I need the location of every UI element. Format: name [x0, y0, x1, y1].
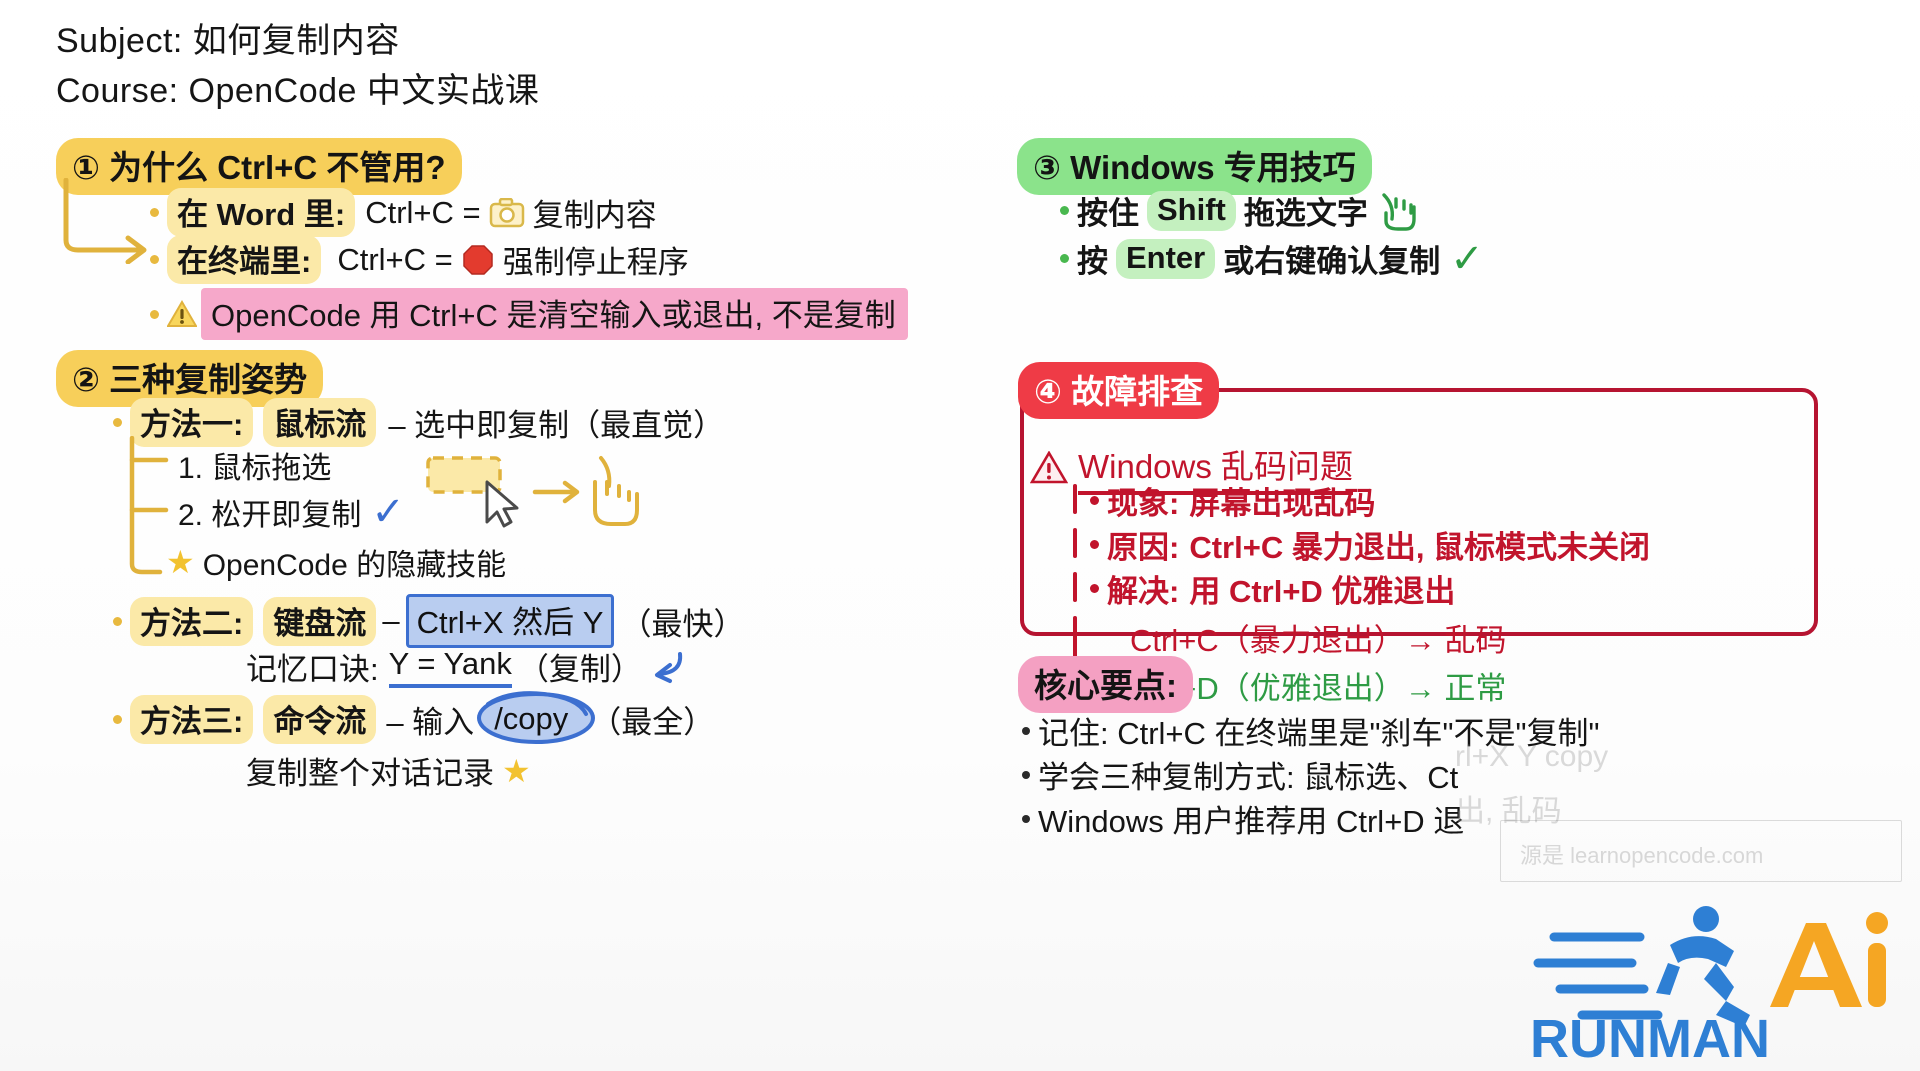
bullet-icon: [1090, 540, 1099, 549]
copy-command-oval[interactable]: /copy: [480, 699, 582, 741]
bullet-icon: [113, 617, 122, 626]
summary-item-2: Windows 用户推荐用 Ctrl+D 退: [1022, 796, 1464, 841]
bullet-icon: [150, 255, 159, 264]
item-label: 原因:: [1107, 522, 1179, 567]
mnemonic-key: Y = Yank: [389, 646, 512, 688]
section-4-item-0: 现象: 屏幕出现乱码: [1090, 478, 1375, 523]
bullet-icon: [113, 715, 122, 724]
section-4-badge: ④ 故障排查: [1018, 362, 1219, 419]
section-4-item-2: 解决: 用 Ctrl+D 优雅退出: [1090, 566, 1455, 611]
method-3-sub: 复制整个对话记录 ★: [246, 748, 531, 793]
section-1-warning: OpenCode 用 Ctrl+C 是清空输入或退出, 不是复制: [150, 288, 908, 340]
step-text: 1. 鼠标拖选: [178, 443, 331, 487]
bullet-icon: [1090, 584, 1099, 593]
method-3-tag: 命令流: [263, 695, 376, 744]
method-1-desc: – 选中即复制（最直觉）: [388, 400, 724, 445]
bullet-icon: [1060, 254, 1069, 263]
arrow-right-icon: [535, 483, 577, 501]
section-4-badge-wrap: ④ 故障排查: [1018, 362, 1219, 419]
item-value: 用 Ctrl+D 优雅退出: [1189, 566, 1455, 611]
mouse-drag-diagram: [425, 452, 655, 537]
warning-triangle-icon: [167, 300, 197, 328]
mnemonic-prefix: 记忆口诀:: [246, 644, 379, 689]
method-2-tag: 键盘流: [263, 597, 376, 646]
section-4-item-1: 原因: Ctrl+C 暴力退出, 鼠标模式未关闭: [1090, 522, 1650, 567]
summary-item-text: 学会三种复制方式: 鼠标选、Ct: [1038, 752, 1458, 797]
mouse-cursor-icon: [487, 482, 517, 526]
ai-wordmark-icon: [1770, 912, 1888, 1007]
item-label: 现象:: [1107, 478, 1179, 523]
ghost-box: [1500, 820, 1902, 882]
bullet-icon: [150, 310, 159, 319]
pointing-hand-icon: [1376, 191, 1420, 231]
item-prefix: 按: [1077, 236, 1108, 281]
item-prefix: 按住: [1077, 188, 1139, 233]
warning-text: OpenCode 用 Ctrl+C 是清空输入或退出, 不是复制: [201, 288, 908, 340]
item-value: Ctrl+C 暴力退出, 鼠标模式未关闭: [1189, 522, 1650, 567]
item-key: Shift: [1147, 191, 1236, 231]
item-value: 屏幕出现乱码: [1189, 478, 1375, 523]
item-expr: Ctrl+C =: [337, 242, 452, 278]
summary-item-1: 学会三种复制方式: 鼠标选、Ct: [1022, 752, 1458, 797]
bullet-icon: [113, 418, 122, 427]
method-3-sub-text: 复制整个对话记录: [246, 748, 494, 793]
item-expr: Ctrl+C =: [365, 195, 480, 231]
method-3-note: （最全）: [590, 697, 714, 742]
header-block: Subject: 如何复制内容 Course: OpenCode 中文实战课: [56, 16, 539, 116]
method-2-row: 方法二: 键盘流 – Ctrl+X 然后 Y （最快）: [113, 594, 744, 648]
section-1-item-0: 在 Word 里: Ctrl+C = 复制内容: [150, 188, 657, 237]
warning-triangle-icon: [1030, 451, 1068, 485]
section-3-item-1: 按 Enter 或右键确认复制 ✓: [1060, 236, 1484, 281]
green-check-icon: ✓: [1450, 239, 1484, 279]
item-label: 在 Word 里:: [167, 188, 355, 237]
method-3-dash: – 输入: [386, 697, 474, 742]
item-suffix: 拖选文字: [1244, 188, 1368, 233]
summary-title: 核心要点:: [1018, 656, 1193, 713]
method-3-row: 方法三: 命令流 – 输入 /copy （最全）: [113, 695, 714, 744]
step-text: 2. 松开即复制: [178, 490, 361, 534]
bullet-icon: [1022, 771, 1030, 779]
method-2-label: 方法二:: [130, 597, 253, 646]
method-3-label: 方法三:: [130, 695, 253, 744]
section-1-item-1: 在终端里: Ctrl+C = 强制停止程序: [150, 235, 689, 284]
subject-line: Subject: 如何复制内容: [56, 16, 539, 66]
summary-title-wrap: 核心要点:: [1018, 656, 1193, 713]
stop-sign-icon: [462, 244, 494, 276]
section-4-comparison-0: Ctrl+C（暴力退出）→ 乱码: [1130, 615, 1506, 660]
hidden-skill-text: OpenCode 的隐藏技能: [203, 540, 506, 584]
bullet-icon: [150, 208, 159, 217]
blue-curved-arrow-icon: [646, 650, 686, 684]
section-3: ③ Windows 专用技巧: [1017, 138, 1372, 195]
blue-check-icon: ✓: [371, 492, 405, 532]
method-2-note: （最快）: [620, 599, 744, 644]
method-1-step-1: 2. 松开即复制 ✓: [178, 490, 405, 534]
method-1-hidden-skill: ★ OpenCode 的隐藏技能: [166, 540, 506, 584]
bullet-icon: [1022, 815, 1030, 823]
method-2-dash: –: [382, 603, 399, 639]
runman-logo: RUNMAN: [1520, 875, 1900, 1065]
bullet-icon: [1022, 727, 1030, 735]
item-label: 在终端里:: [167, 235, 321, 284]
method-1-row: 方法一: 鼠标流 – 选中即复制（最直觉）: [113, 398, 724, 447]
course-line: Course: OpenCode 中文实战课: [56, 66, 539, 116]
copy-command-text: /copy: [494, 701, 568, 736]
summary-item-0: 记住: Ctrl+C 在终端里是"刹车"不是"复制": [1022, 708, 1600, 753]
red-tick-0: [1073, 484, 1077, 514]
bullet-icon: [1090, 496, 1099, 505]
section-3-title: ③ Windows 专用技巧: [1017, 138, 1372, 195]
method-2-keys: Ctrl+X 然后 Y: [406, 594, 615, 648]
item-label: 解决:: [1107, 566, 1179, 611]
method-2-mnemonic: 记忆口诀: Y = Yank （复制）: [246, 644, 686, 689]
red-tick-2: [1073, 572, 1077, 602]
infographic-canvas: Subject: 如何复制内容 Course: OpenCode 中文实战课 ①…: [0, 0, 1920, 1071]
star-icon: ★: [166, 546, 195, 578]
item-suffix: 或右键确认复制: [1223, 236, 1440, 281]
method-1-tag: 鼠标流: [263, 398, 376, 447]
star-icon: ★: [502, 755, 531, 787]
summary-item-text: 记住: Ctrl+C 在终端里是"刹车"不是"复制": [1038, 708, 1600, 753]
pointing-hand-icon: [595, 458, 637, 524]
item-desc: 复制内容: [533, 190, 657, 235]
item-desc: 强制停止程序: [503, 237, 689, 282]
mnemonic-suffix: （复制）: [518, 644, 642, 689]
method-1-step-0: 1. 鼠标拖选: [178, 443, 331, 487]
summary-item-text: Windows 用户推荐用 Ctrl+D 退: [1038, 796, 1464, 841]
section-3-item-0: 按住 Shift 拖选文字: [1060, 188, 1420, 233]
red-tick-1: [1073, 528, 1077, 558]
runman-wordmark: RUNMAN: [1530, 1009, 1770, 1065]
item-key: Enter: [1116, 239, 1215, 279]
bullet-icon: [1060, 206, 1069, 215]
camera-icon: [489, 198, 525, 228]
